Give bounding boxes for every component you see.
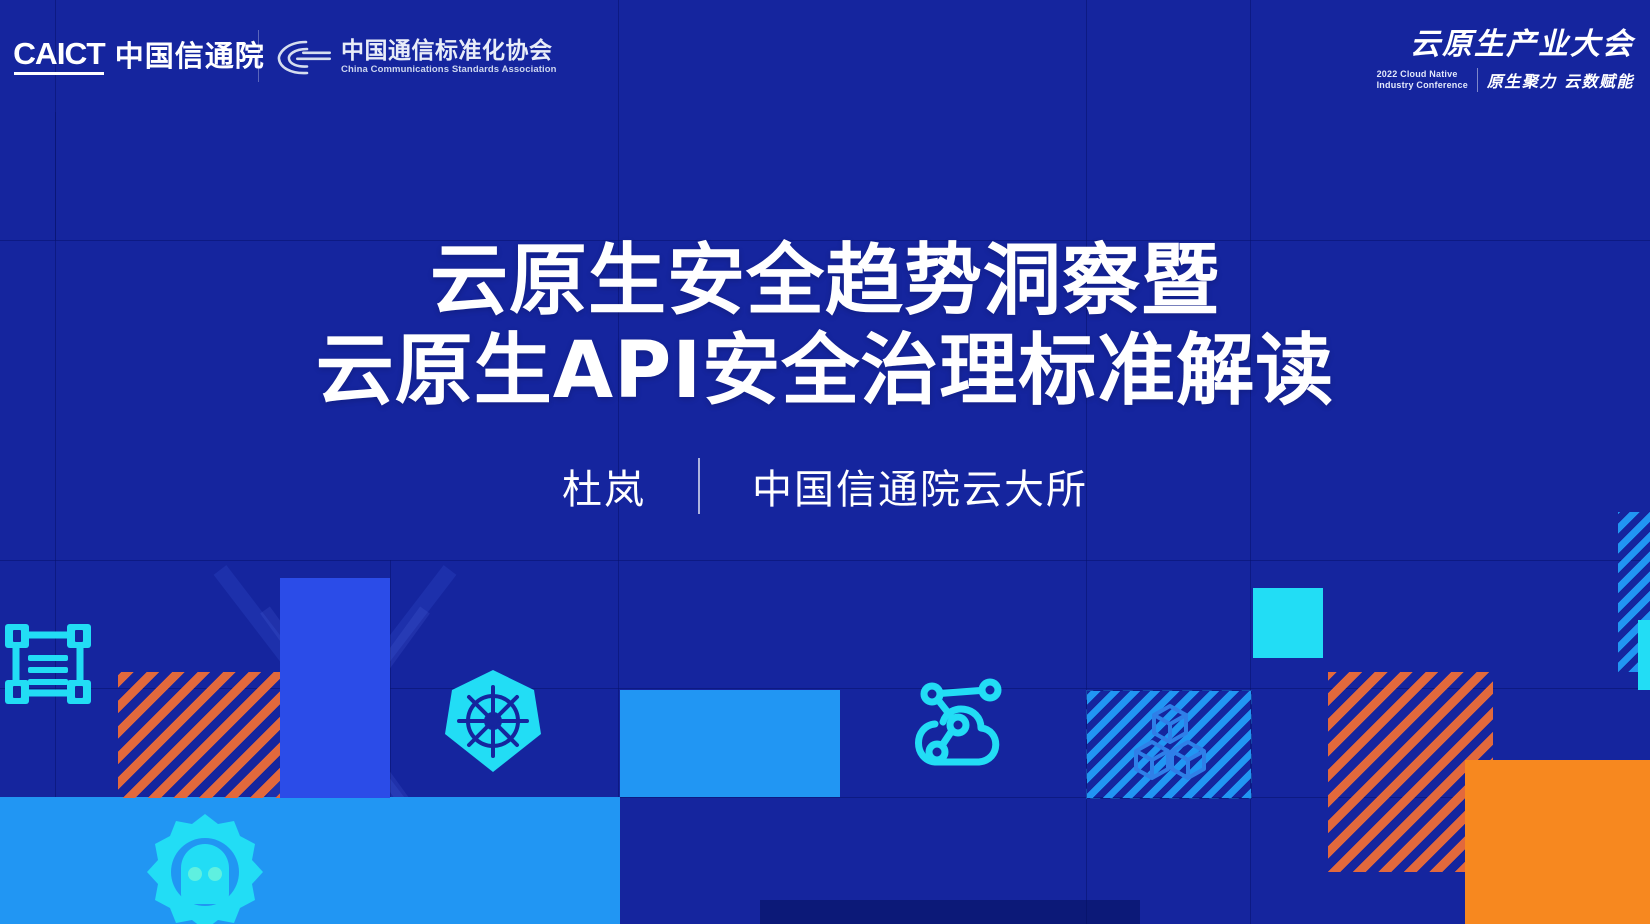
ccsa-logo: 中国通信标准化协会 China Communications Standards… — [276, 36, 557, 78]
presenter-organization: 中国信通院云大所 — [752, 457, 1088, 515]
stacked-cubes-icon — [1128, 702, 1212, 786]
presenter-divider — [698, 458, 700, 514]
deco-square-cyan — [1253, 588, 1323, 658]
deco-line-topleft — [55, 112, 56, 240]
conference-name-en-line2: Industry Conference — [1377, 80, 1468, 91]
conference-slogan: 原生聚力 云数赋能 — [1487, 68, 1634, 92]
logo-divider — [258, 30, 259, 82]
ccsa-swoosh-icon — [276, 36, 332, 78]
presenter-name: 杜岚 — [562, 457, 646, 515]
deco-block-light-blue-center — [620, 690, 840, 797]
caict-logo: CAICT 中国信通院 — [14, 38, 265, 75]
deco-sliver-cyan — [1638, 620, 1650, 690]
deco-hatch-column-overlay — [280, 672, 320, 798]
kubernetes-helm-icon — [443, 668, 543, 774]
presentation-slide: CAICT 中国信通院 中国通信标准化协会 China Communicatio… — [0, 0, 1650, 924]
caict-name-cn: 中国信通院 — [115, 42, 265, 71]
conference-name-en-line1: 2022 Cloud Native — [1377, 69, 1468, 80]
presenter-block: 杜岚 中国信通院云大所 — [0, 457, 1650, 515]
conference-divider — [1477, 68, 1478, 92]
page-title-line1: 云原生安全趋势洞察暨 — [0, 236, 1650, 326]
slide-header: CAICT 中国信通院 中国通信标准化协会 China Communicatio… — [0, 0, 1650, 110]
container-server-icon — [2, 617, 94, 709]
title-block: 云原生安全趋势洞察暨 云原生API安全治理标准解读 杜岚 中国信通院云大所 — [0, 236, 1650, 515]
deco-block-light-blue-band — [0, 797, 620, 924]
deco-hatch-orange-left — [118, 672, 288, 798]
caict-abbreviation: CAICT — [13, 38, 105, 69]
caict-logo-icon: CAICT — [14, 38, 104, 75]
conference-name-en: 2022 Cloud Native Industry Conference — [1377, 69, 1468, 92]
ccsa-name-en: China Communications Standards Associati… — [341, 65, 557, 75]
cloud-network-node-icon — [905, 672, 1015, 780]
page-title-line2: 云原生API安全治理标准解读 — [0, 326, 1650, 416]
conference-name-cn: 云原生产业大会 — [1377, 30, 1634, 60]
deco-block-orange — [1465, 760, 1650, 924]
ccsa-name-cn: 中国通信标准化协会 — [341, 40, 557, 63]
deco-panel-dark — [760, 900, 1140, 924]
conference-logo: 云原生产业大会 2022 Cloud Native Industry Confe… — [1377, 30, 1634, 92]
caict-underline — [14, 72, 104, 75]
gear-robot-icon — [145, 808, 265, 924]
